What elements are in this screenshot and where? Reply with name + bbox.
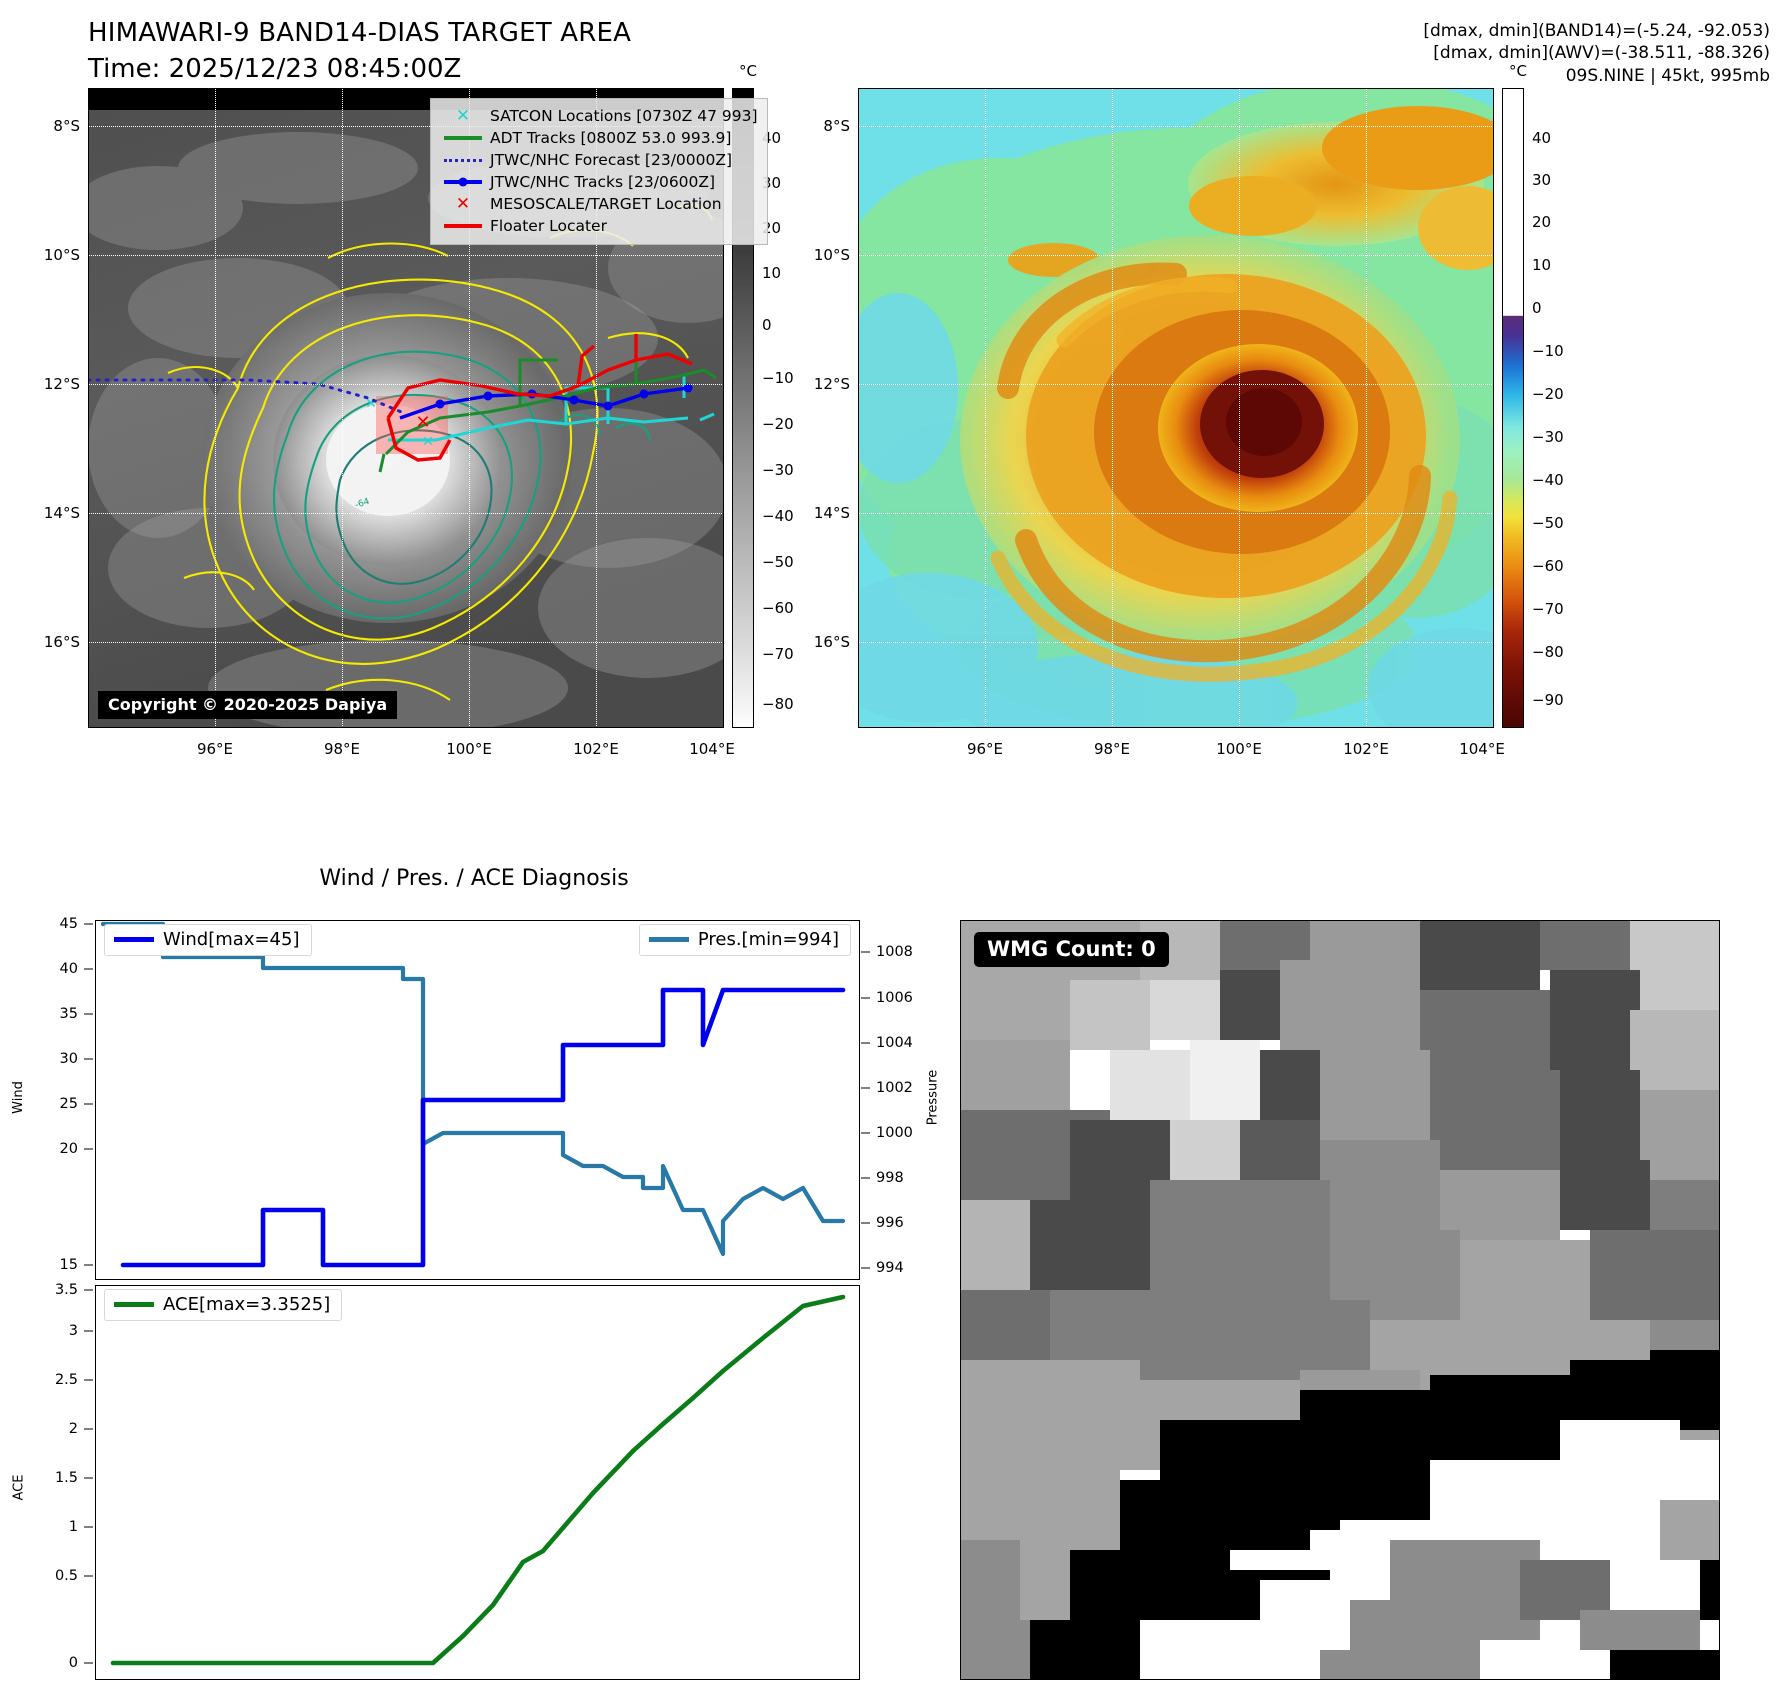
pressure-legend[interactable]: Pres.[min=994] <box>639 924 851 956</box>
awv-colorbar-unit: °C <box>1509 62 1527 80</box>
awv-cbar-tick-m20: −20 <box>1532 385 1564 403</box>
awv-cbar-tick-m10: −10 <box>1532 342 1564 360</box>
ace-ytick-00: 0 <box>24 1655 78 1671</box>
ir-cbar-tick-m70: −70 <box>762 645 794 663</box>
awv-colorbar[interactable] <box>1502 88 1524 728</box>
pres-ytickmark-994 <box>861 1268 870 1269</box>
awv-cbar-tick-m50: −50 <box>1532 514 1564 532</box>
legend-item-adt[interactable]: ADT Tracks [0800Z 53.0 993.9] <box>440 127 758 149</box>
awv-cbar-tick-30: 30 <box>1532 171 1551 189</box>
legend-item-jtwc-tracks[interactable]: JTWC/NHC Tracks [23/0600Z] <box>440 171 758 193</box>
ir-lon-tick-102e: 102°E <box>573 740 619 758</box>
ace-ytickmark-05 <box>84 1576 93 1577</box>
pressure-line <box>103 924 843 1254</box>
wind-ytick-15: 15 <box>28 1257 78 1273</box>
wind-ytickmark-25 <box>84 1104 93 1105</box>
ace-ytickmark-15 <box>84 1478 93 1479</box>
ace-ytickmark-25 <box>84 1380 93 1381</box>
pres-ytickmark-996 <box>861 1223 870 1224</box>
ir-cbar-tick-0: 0 <box>762 316 772 334</box>
dashboard-root: HIMAWARI-9 BAND14-DIAS TARGET AREA Time:… <box>0 0 1792 1690</box>
wmg-panel[interactable]: WMG Count: 0 <box>960 920 1720 1680</box>
awv-cbar-tick-10: 10 <box>1532 256 1551 274</box>
pres-ytickmark-998 <box>861 1178 870 1179</box>
pres-ytick-1002: 1002 <box>876 1080 930 1096</box>
ir-lon-tick-98e: 98°E <box>324 740 360 758</box>
awv-cbar-tick-m90: −90 <box>1532 691 1564 709</box>
awv-cbar-tick-m30: −30 <box>1532 428 1564 446</box>
page-title-block: HIMAWARI-9 BAND14-DIAS TARGET AREA Time:… <box>88 18 631 84</box>
wmg-image <box>960 920 1720 1680</box>
pres-ytickmark-1000 <box>861 1133 870 1134</box>
pressure-legend-swatch <box>649 937 689 942</box>
pres-ytick-1008: 1008 <box>876 944 930 960</box>
wind-legend-label: Wind[max=45] <box>163 929 300 950</box>
wind-pressure-chart[interactable]: Wind[max=45] Pres.[min=994] <box>95 920 860 1280</box>
awv-lat-tick-10s: 10°S <box>790 246 850 264</box>
awv-satellite-panel[interactable] <box>858 88 1494 728</box>
awv-satellite-image <box>858 88 1494 728</box>
awv-lon-tick-100e: 100°E <box>1216 740 1262 758</box>
tracks-line-marker-icon <box>440 171 486 193</box>
floater-line-icon <box>440 215 486 237</box>
dmax-band14-text: [dmax, dmin](BAND14)=(-5.24, -92.053) <box>1423 20 1770 42</box>
forecast-dotted-line-icon <box>440 149 486 171</box>
wind-ytickmark-45 <box>84 924 93 925</box>
awv-lon-tick-96e: 96°E <box>967 740 1003 758</box>
pressure-axis-label: Pressure <box>925 1070 940 1126</box>
legend-label-satcon: SATCON Locations [0730Z 47 993] <box>486 107 758 125</box>
pres-ytickmark-1008 <box>861 952 870 953</box>
page-timestamp: Time: 2025/12/23 08:45:00Z <box>88 54 631 84</box>
ir-lon-tick-100e: 100°E <box>446 740 492 758</box>
wind-ytickmark-30 <box>84 1059 93 1060</box>
wmg-count-badge: WMG Count: 0 <box>974 932 1169 967</box>
awv-lon-tick-102e: 102°E <box>1343 740 1389 758</box>
awv-cbar-tick-40: 40 <box>1532 129 1551 147</box>
wind-legend-swatch <box>114 937 154 942</box>
ace-ytick-25: 2.5 <box>24 1372 78 1388</box>
ir-cbar-tick-m80: −80 <box>762 695 794 713</box>
legend-label-mesoscale: MESOSCALE/TARGET Location <box>486 195 722 213</box>
ir-lat-tick-8s: 8°S <box>28 117 80 135</box>
mesoscale-x-icon: ✕ <box>440 193 486 215</box>
ace-line <box>113 1297 843 1663</box>
wind-ytickmark-20 <box>84 1149 93 1150</box>
ir-cbar-tick-m30: −30 <box>762 461 794 479</box>
satcon-x-icon: ✕ <box>440 105 486 127</box>
ace-ytickmark-00 <box>84 1663 93 1664</box>
ir-cbar-tick-m60: −60 <box>762 599 794 617</box>
copyright-stamp: Copyright © 2020-2025 Dapiya <box>98 691 397 719</box>
storm-summary-text: 09S.NINE | 45kt, 995mb <box>1423 65 1770 87</box>
ace-ytickmark-10 <box>84 1527 93 1528</box>
wind-ytickmark-15 <box>84 1265 93 1266</box>
adt-line-icon <box>440 127 486 149</box>
ir-lon-tick-96e: 96°E <box>197 740 233 758</box>
ir-lat-tick-10s: 10°S <box>20 246 80 264</box>
ace-ytick-35: 3.5 <box>24 1282 78 1298</box>
awv-lat-tick-8s: 8°S <box>798 117 850 135</box>
legend-label-jtwc-forecast: JTWC/NHC Forecast [23/0000Z] <box>486 151 732 169</box>
ir-cbar-tick-m40: −40 <box>762 507 794 525</box>
pres-ytick-998: 998 <box>876 1170 930 1186</box>
awv-cbar-tick-m70: −70 <box>1532 600 1564 618</box>
ace-ytickmark-30 <box>84 1331 93 1332</box>
pres-ytick-1004: 1004 <box>876 1035 930 1051</box>
legend-item-jtwc-forecast[interactable]: JTWC/NHC Forecast [23/0000Z] <box>440 149 758 171</box>
awv-lat-tick-12s: 12°S <box>790 375 850 393</box>
pres-ytickmark-1006 <box>861 998 870 999</box>
wind-ytick-35: 35 <box>28 1006 78 1022</box>
legend-label-jtwc-tracks: JTWC/NHC Tracks [23/0600Z] <box>486 173 715 191</box>
wind-legend[interactable]: Wind[max=45] <box>104 924 312 956</box>
ir-cbar-tick-m50: −50 <box>762 553 794 571</box>
ace-ytick-15: 1.5 <box>24 1470 78 1486</box>
pres-ytickmark-1002 <box>861 1088 870 1089</box>
awv-cbar-tick-20: 20 <box>1532 213 1551 231</box>
wind-ytick-45: 45 <box>28 916 78 932</box>
wind-axis-label: Wind <box>11 1081 26 1114</box>
ir-colorbar-unit: °C <box>739 62 757 80</box>
legend-label-floater: Floater Locater <box>486 217 607 235</box>
legend-label-adt: ADT Tracks [0800Z 53.0 993.9] <box>486 129 731 147</box>
ir-lon-tick-104e: 104°E <box>689 740 735 758</box>
wind-pressure-plot <box>95 920 860 1280</box>
ir-cbar-tick-m20: −20 <box>762 415 794 433</box>
ace-ytickmark-35 <box>84 1290 93 1291</box>
ace-ytick-10: 1 <box>24 1519 78 1535</box>
dmax-awv-text: [dmax, dmin](AWV)=(-38.511, -88.326) <box>1423 42 1770 64</box>
awv-lon-tick-104e: 104°E <box>1459 740 1505 758</box>
ir-lat-tick-16s: 16°S <box>20 633 80 651</box>
wind-ytick-25: 25 <box>28 1096 78 1112</box>
wind-ytick-40: 40 <box>28 961 78 977</box>
ir-cbar-tick-m10: −10 <box>762 369 794 387</box>
legend-item-floater[interactable]: Floater Locater <box>440 215 758 237</box>
header-stats: [dmax, dmin](BAND14)=(-5.24, -92.053) [d… <box>1423 20 1770 87</box>
pres-ytickmark-1004 <box>861 1043 870 1044</box>
page-title: HIMAWARI-9 BAND14-DIAS TARGET AREA <box>88 18 631 48</box>
diagnosis-chart-title: Wind / Pres. / ACE Diagnosis <box>88 866 860 891</box>
ir-lat-tick-12s: 12°S <box>20 375 80 393</box>
wind-line <box>123 990 843 1265</box>
pres-ytick-996: 996 <box>876 1215 930 1231</box>
awv-lon-tick-98e: 98°E <box>1094 740 1130 758</box>
wind-ytickmark-35 <box>84 1014 93 1015</box>
pressure-legend-label: Pres.[min=994] <box>698 929 839 950</box>
awv-cbar-tick-0: 0 <box>1532 299 1542 317</box>
pres-ytick-1000: 1000 <box>876 1125 930 1141</box>
ace-legend-swatch <box>114 1302 154 1307</box>
pres-ytick-994: 994 <box>876 1260 930 1276</box>
ace-ytickmark-20 <box>84 1429 93 1430</box>
wind-ytick-30: 30 <box>28 1051 78 1067</box>
ace-chart[interactable]: ACE[max=3.3525] <box>95 1285 860 1680</box>
ace-ytick-30: 3 <box>24 1323 78 1339</box>
wind-ytick-20: 20 <box>28 1141 78 1157</box>
legend-item-mesoscale[interactable]: ✕ MESOSCALE/TARGET Location <box>440 193 758 215</box>
awv-lat-tick-16s: 16°S <box>790 633 850 651</box>
ace-legend[interactable]: ACE[max=3.3525] <box>104 1289 342 1321</box>
svg-text:✕: ✕ <box>422 434 434 450</box>
svg-text:✕: ✕ <box>415 412 430 433</box>
awv-cbar-tick-m40: −40 <box>1532 471 1564 489</box>
awv-lat-tick-14s: 14°S <box>790 504 850 522</box>
ir-cbar-tick-10: 10 <box>762 264 781 282</box>
awv-cbar-tick-m60: −60 <box>1532 557 1564 575</box>
ir-map-legend[interactable]: ✕ SATCON Locations [0730Z 47 993] ADT Tr… <box>430 98 768 245</box>
ace-legend-label: ACE[max=3.3525] <box>163 1294 330 1315</box>
ace-ytick-05: 0.5 <box>24 1568 78 1584</box>
ace-ytick-20: 2 <box>24 1421 78 1437</box>
ace-plot <box>95 1285 860 1680</box>
pres-ytick-1006: 1006 <box>876 990 930 1006</box>
legend-item-satcon[interactable]: ✕ SATCON Locations [0730Z 47 993] <box>440 105 758 127</box>
wind-ytickmark-40 <box>84 969 93 970</box>
awv-cbar-tick-m80: −80 <box>1532 643 1564 661</box>
ir-lat-tick-14s: 14°S <box>20 504 80 522</box>
